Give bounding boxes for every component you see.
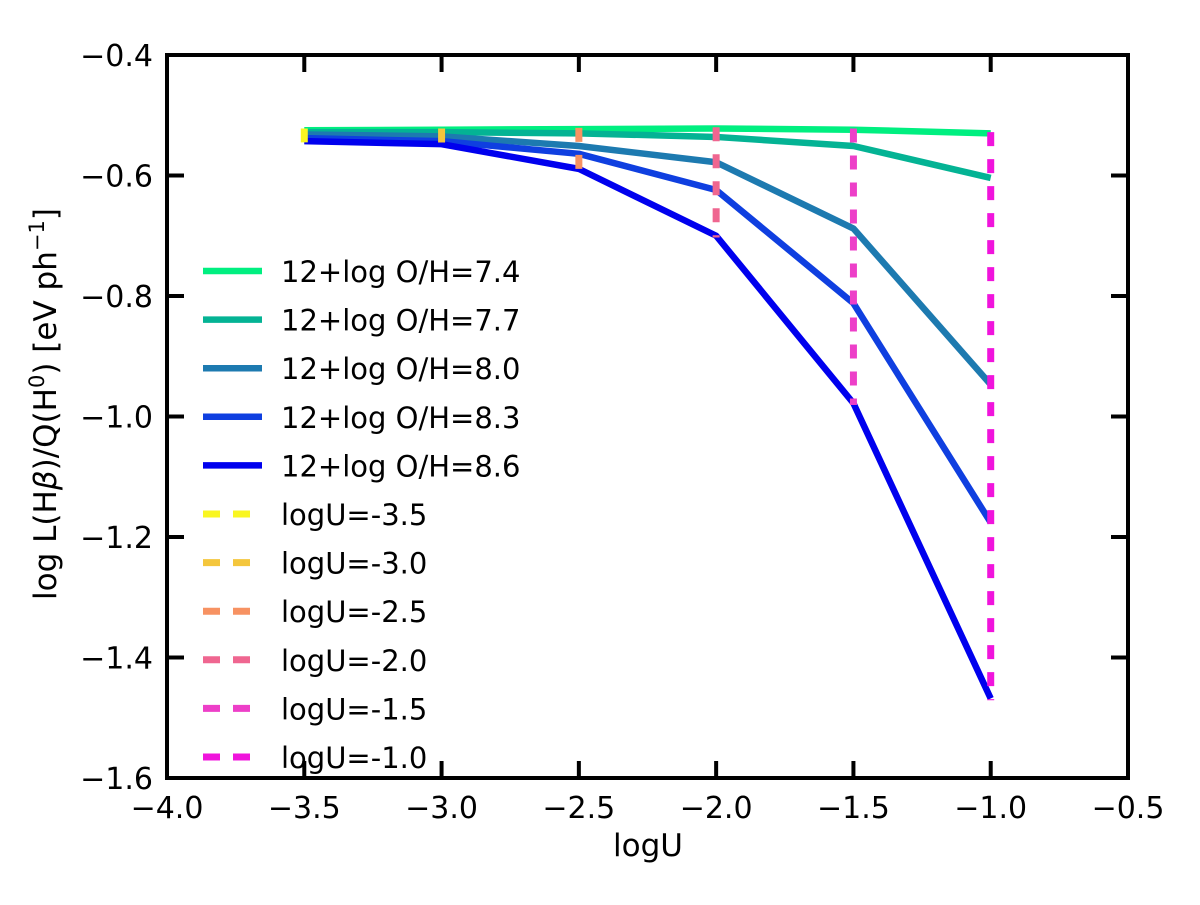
chart-svg: −4.0−3.5−3.0−2.5−2.0−1.5−1.0−0.5 −0.4−0.… [0, 0, 1200, 905]
y-tick-label: −1.0 [80, 401, 153, 436]
legend-label: logU=-2.0 [281, 644, 427, 678]
y-tick-label: −1.4 [80, 642, 153, 677]
y-tick-label: −0.4 [80, 39, 153, 74]
x-tick-label: −2.5 [542, 791, 615, 826]
legend-label: logU=-1.0 [281, 741, 427, 775]
legend-label: 12+log O/H=8.0 [281, 352, 520, 386]
x-tick-label: −1.0 [954, 791, 1027, 826]
legend-label: logU=-3.0 [281, 547, 427, 581]
svg-text:log L(Hβ)/Q(H0) [eV ph−1]: log L(Hβ)/Q(H0) [eV ph−1] [25, 208, 64, 600]
x-tick-label: −1.5 [817, 791, 890, 826]
legend-label: logU=-3.5 [281, 498, 427, 532]
y-tick-label: −1.2 [80, 521, 153, 556]
y-tick-label: −0.6 [80, 160, 153, 195]
y-tick-label: −0.8 [80, 280, 153, 315]
figure-canvas: −4.0−3.5−3.0−2.5−2.0−1.5−1.0−0.5 −0.4−0.… [0, 0, 1200, 905]
x-tick-label: −0.5 [1092, 791, 1165, 826]
legend: 12+log O/H=7.412+log O/H=7.712+log O/H=8… [203, 255, 520, 775]
x-tick-label: −3.0 [405, 791, 478, 826]
legend-label: 12+log O/H=7.7 [281, 304, 520, 338]
x-axis-title: logU [613, 828, 683, 864]
legend-label: 12+log O/H=7.4 [281, 255, 520, 289]
x-tick-label: −3.5 [268, 791, 341, 826]
y-tick-label: −1.6 [80, 762, 153, 797]
legend-label: 12+log O/H=8.3 [281, 401, 520, 435]
x-tick-label: −2.0 [680, 791, 753, 826]
legend-label: logU=-1.5 [281, 692, 427, 726]
legend-label: logU=-2.5 [281, 595, 427, 629]
y-axis-title: log L(Hβ)/Q(H0) [eV ph−1] [25, 208, 64, 600]
legend-label: 12+log O/H=8.6 [281, 449, 520, 483]
